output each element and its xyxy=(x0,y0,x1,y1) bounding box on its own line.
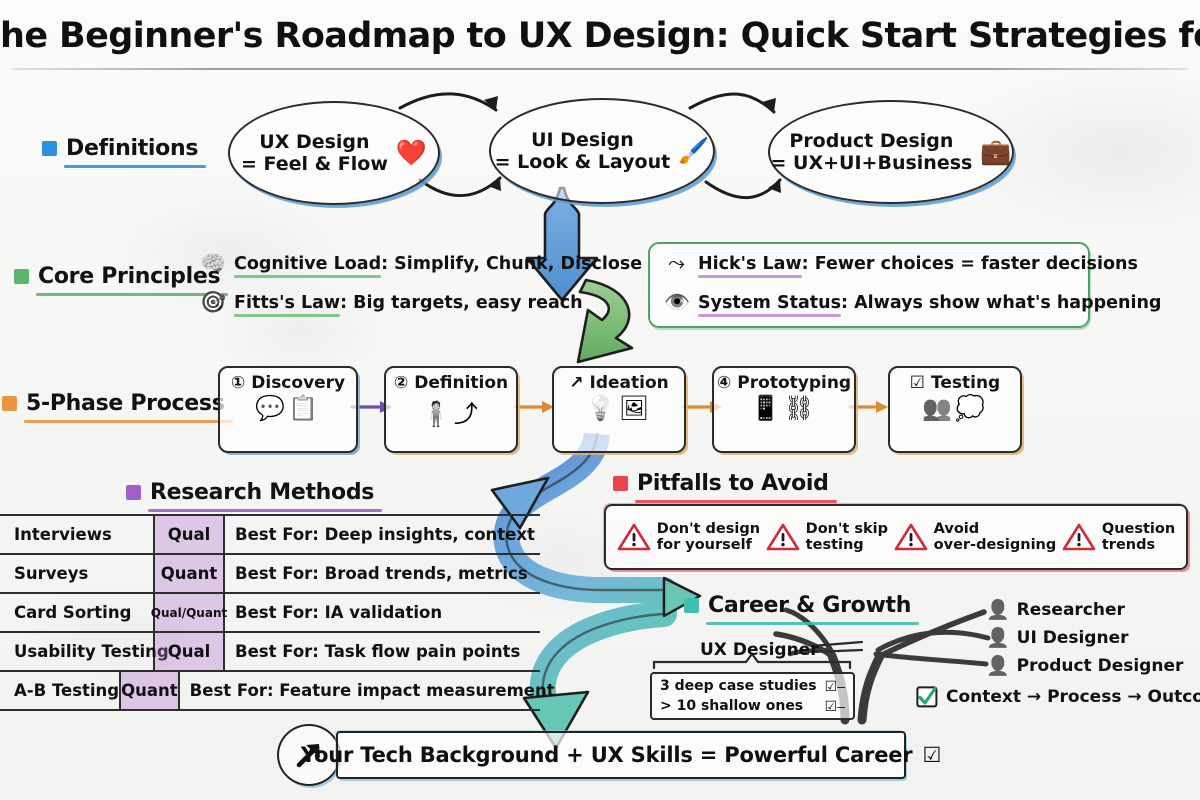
cell-method: Card Sorting xyxy=(0,594,155,631)
bubble-text: Product Design= UX+UI+Business xyxy=(771,130,973,174)
person-icon: 👤 xyxy=(986,598,1010,622)
footer-text: Your Tech Background + UX Skills = Power… xyxy=(301,743,913,767)
phase-header: ④ Prototyping xyxy=(717,373,851,393)
phase-icons: 📱⛓ xyxy=(751,394,817,423)
phase-icons: 💬📋 xyxy=(255,394,321,423)
phase-label: Definition xyxy=(414,373,508,393)
phase-icons: 💡🖼 xyxy=(586,394,652,423)
phase-number: ☑ xyxy=(910,373,925,393)
person-icon: 👤 xyxy=(986,654,1010,678)
career-root-label: UX Designer xyxy=(700,640,819,660)
process-phase-testing[interactable]: ☑ Testing 👥💭 xyxy=(888,366,1022,453)
warning-triangle-icon xyxy=(1062,522,1096,552)
phase-number: ④ xyxy=(717,373,731,393)
eye-icon: 👁️ xyxy=(664,291,689,315)
principle-text: Cognitive Load: Simplify, Chunk, Disclos… xyxy=(234,254,642,274)
career-branch-ui-designer: 👤 UI Designer xyxy=(986,626,1129,650)
cell-type: Qual xyxy=(155,633,225,670)
table-row[interactable]: Card Sorting Qual/Quant Best For: IA val… xyxy=(0,594,540,633)
phase-number: ↗ xyxy=(569,373,583,393)
square-bullet-icon xyxy=(613,476,628,491)
career-branch-researcher: 👤 Researcher xyxy=(986,598,1125,622)
career-branch-product-designer: 👤 Product Designer xyxy=(986,654,1183,678)
cell-type: Qual xyxy=(155,516,225,553)
pitfall-text: Don't designfor yourself xyxy=(657,521,760,553)
pitfall-text: Don't skiptesting xyxy=(806,521,888,553)
principle-fitts-law: 🎯 Fitts's Law: Big targets, easy reach xyxy=(200,291,583,315)
pitfall-text: Questiontrends xyxy=(1102,521,1175,553)
section-label-text: Career & Growth xyxy=(708,593,911,618)
section-label-text: Pitfalls to Avoid xyxy=(637,471,829,496)
section-label-text: Core Principles xyxy=(38,264,220,289)
cell-best-for: Best For: IA validation xyxy=(225,594,540,631)
branch-label: Product Designer xyxy=(1017,656,1184,676)
target-icon: 🎯 xyxy=(200,291,225,315)
pitfall-item: Avoidover-designing xyxy=(894,521,1057,553)
principle-hicks-law: ⤳️ Hick's Law: Fewer choices = faster de… xyxy=(664,252,1138,276)
phase-number: ① xyxy=(231,373,245,393)
principle-text: Fitts's Law: Big targets, easy reach xyxy=(234,293,583,313)
section-label-pitfalls: Pitfalls to Avoid xyxy=(613,471,829,496)
square-bullet-icon xyxy=(684,598,699,613)
paintbrush-icon: 🖌️ xyxy=(678,139,709,164)
checkbox-checked-icon: ☑– xyxy=(825,676,845,696)
cell-best-for: Best For: Broad trends, metrics xyxy=(225,555,540,592)
case-line-1: 3 deep case studies xyxy=(660,676,817,696)
checkbox-checked-icon: ☑– xyxy=(825,696,845,716)
pitfalls-box: Don't designfor yourself Don't skiptesti… xyxy=(604,504,1188,570)
table-row[interactable]: Interviews Qual Best For: Deep insights,… xyxy=(0,514,540,555)
heart-icon: ❤️ xyxy=(396,141,427,166)
principle-system-status: 👁️ System Status: Always show what's hap… xyxy=(664,291,1161,315)
phase-icons: 🧍⤴ xyxy=(421,394,481,429)
cell-best-for: Best For: Task flow pain points xyxy=(225,633,540,670)
pitfall-item: Don't skiptesting xyxy=(766,521,888,553)
section-label-text: Definitions xyxy=(66,136,198,161)
cell-method: A-B Testing xyxy=(0,672,121,709)
phase-label: Discovery xyxy=(251,373,345,393)
bubble-ui-design[interactable]: UI Design= Look & Layout 🖌️ xyxy=(489,98,715,204)
section-label-process: 5-Phase Process xyxy=(2,391,225,416)
portfolio-formula: Context → Process → Outcome xyxy=(916,686,1200,708)
branching-arrow-icon: ⤳️ xyxy=(664,252,689,276)
process-phase-ideation[interactable]: ↗ Ideation 💡🖼 xyxy=(552,366,686,453)
phase-header: ↗ Ideation xyxy=(569,373,668,393)
table-row[interactable]: Surveys Quant Best For: Broad trends, me… xyxy=(0,555,540,594)
pitfall-item: Questiontrends xyxy=(1062,521,1175,553)
warning-triangle-icon xyxy=(894,522,928,552)
phase-header: ① Discovery xyxy=(231,373,345,393)
bubble-text: UI Design= Look & Layout xyxy=(495,129,671,173)
branch-label: UI Designer xyxy=(1017,628,1129,648)
square-bullet-icon xyxy=(42,141,57,156)
cell-best-for: Best For: Feature impact measurement xyxy=(180,672,555,709)
case-line-2: > 10 shallow ones xyxy=(660,696,817,716)
title-divider xyxy=(12,68,1188,70)
phase-label: Prototyping xyxy=(737,373,851,393)
phase-number: ② xyxy=(394,373,408,393)
phase-label: Ideation xyxy=(590,373,669,393)
brain-icon: 🧠 xyxy=(200,252,225,276)
section-label-core-principles: Core Principles xyxy=(14,264,220,289)
principle-text: Hick's Law: Fewer choices = faster decis… xyxy=(698,254,1138,274)
phase-icons: 👥💭 xyxy=(922,394,988,423)
warning-triangle-icon xyxy=(617,522,651,552)
square-bullet-icon xyxy=(14,269,29,284)
case-studies-lines: 3 deep case studies > 10 shallow ones xyxy=(660,676,817,717)
principle-cognitive-load: 🧠 Cognitive Load: Simplify, Chunk, Discl… xyxy=(200,252,642,276)
bubble-product-design[interactable]: Product Design= UX+UI+Business 💼 xyxy=(768,100,1014,204)
footer-banner: Your Tech Background + UX Skills = Power… xyxy=(336,731,906,779)
cell-type: Quant xyxy=(121,672,180,709)
section-label-text: Research Methods xyxy=(150,480,374,505)
section-label-research: Research Methods xyxy=(126,480,374,505)
table-row[interactable]: A-B Testing Quant Best For: Feature impa… xyxy=(0,672,540,711)
cell-method: Usability Testing xyxy=(0,633,155,670)
person-icon: 👤 xyxy=(986,626,1010,650)
square-bullet-icon xyxy=(126,485,141,500)
bubble-text: UX Design= Feel & Flow xyxy=(241,131,388,175)
cell-type: Qual/Quant xyxy=(155,594,225,631)
principle-text: System Status: Always show what's happen… xyxy=(698,293,1161,313)
case-studies-checks: ☑– ☑– xyxy=(825,676,845,717)
cell-method: Interviews xyxy=(0,516,155,553)
branch-label: Researcher xyxy=(1017,600,1125,620)
section-label-text: 5-Phase Process xyxy=(26,391,225,416)
process-phase-discovery[interactable]: ① Discovery 💬📋 xyxy=(218,366,358,453)
table-row[interactable]: Usability Testing Qual Best For: Task fl… xyxy=(0,633,540,672)
phase-label: Testing xyxy=(931,373,1000,393)
warning-triangle-icon xyxy=(766,522,800,552)
case-studies-box: 3 deep case studies > 10 shallow ones ☑–… xyxy=(650,672,855,720)
square-bullet-icon xyxy=(2,396,17,411)
pitfall-text: Avoidover-designing xyxy=(934,521,1057,553)
cell-method: Surveys xyxy=(0,555,155,592)
bubble-ux-design[interactable]: UX Design= Feel & Flow ❤️ xyxy=(228,101,440,205)
cell-type: Quant xyxy=(155,555,225,592)
phase-header: ② Definition xyxy=(394,373,508,393)
formula-text: Context → Process → Outcome xyxy=(946,687,1200,707)
section-label-career: Career & Growth xyxy=(684,593,911,618)
checkbox-checked-icon xyxy=(916,686,938,708)
research-methods-table: Interviews Qual Best For: Deep insights,… xyxy=(0,514,540,711)
checkbox-checked-icon: ☑ xyxy=(922,743,941,767)
briefcase-icon: 💼 xyxy=(980,140,1011,165)
cell-best-for: Best For: Deep insights, context xyxy=(225,516,540,553)
pitfall-item: Don't designfor yourself xyxy=(617,521,760,553)
section-label-definitions: Definitions xyxy=(42,136,198,161)
page-title: he Beginner's Roadmap to UX Design: Quic… xyxy=(0,10,1200,62)
process-phase-prototyping[interactable]: ④ Prototyping 📱⛓ xyxy=(712,366,856,453)
process-phase-definition[interactable]: ② Definition 🧍⤴ xyxy=(384,366,518,453)
phase-header: ☑ Testing xyxy=(910,373,1000,393)
